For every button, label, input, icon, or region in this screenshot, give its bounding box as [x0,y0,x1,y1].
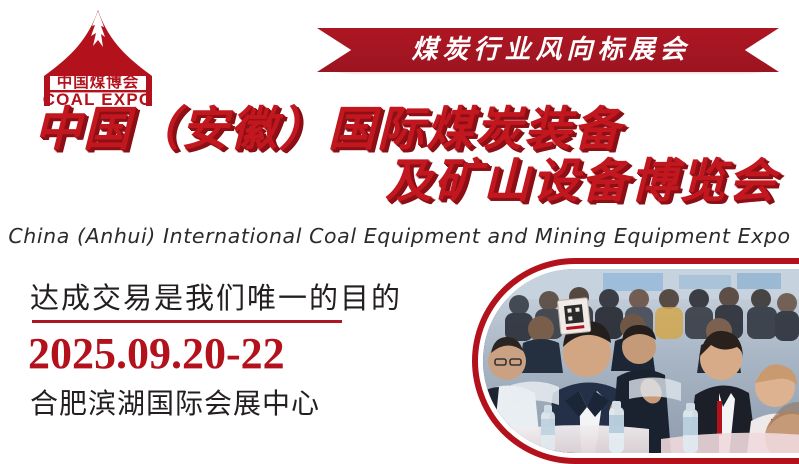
coal-expo-logo: 中国煤博会 COAL EXPO [22,6,174,110]
event-date: 2025.09.20-22 [28,330,285,378]
english-subtitle: China (Anhui) International Coal Equipme… [0,224,799,248]
photo-image [483,269,799,453]
tagline-ribbon: 煤炭行业风向标展会 [317,28,779,72]
slogan-text: 达成交易是我们唯一的目的 [30,275,402,317]
main-title-line-1: 中国（安徽）国际煤炭装备 [0,104,799,156]
ribbon-text: 煤炭行业风向标展会 [405,37,690,63]
logo-chinese-text: 中国煤博会 [57,72,140,91]
slogan-underline [32,320,342,323]
main-title-line-2: 及矿山设备博览会 [0,156,799,208]
event-venue: 合肥滨湖国际会展中心 [30,382,320,422]
main-title: 中国（安徽）国际煤炭装备 及矿山设备博览会 [0,104,799,208]
conference-audience-photo [472,258,799,464]
expo-poster: 中国煤博会 COAL EXPO 煤炭行业风向标展会 中国（安徽）国际煤炭装备 及… [0,0,799,464]
